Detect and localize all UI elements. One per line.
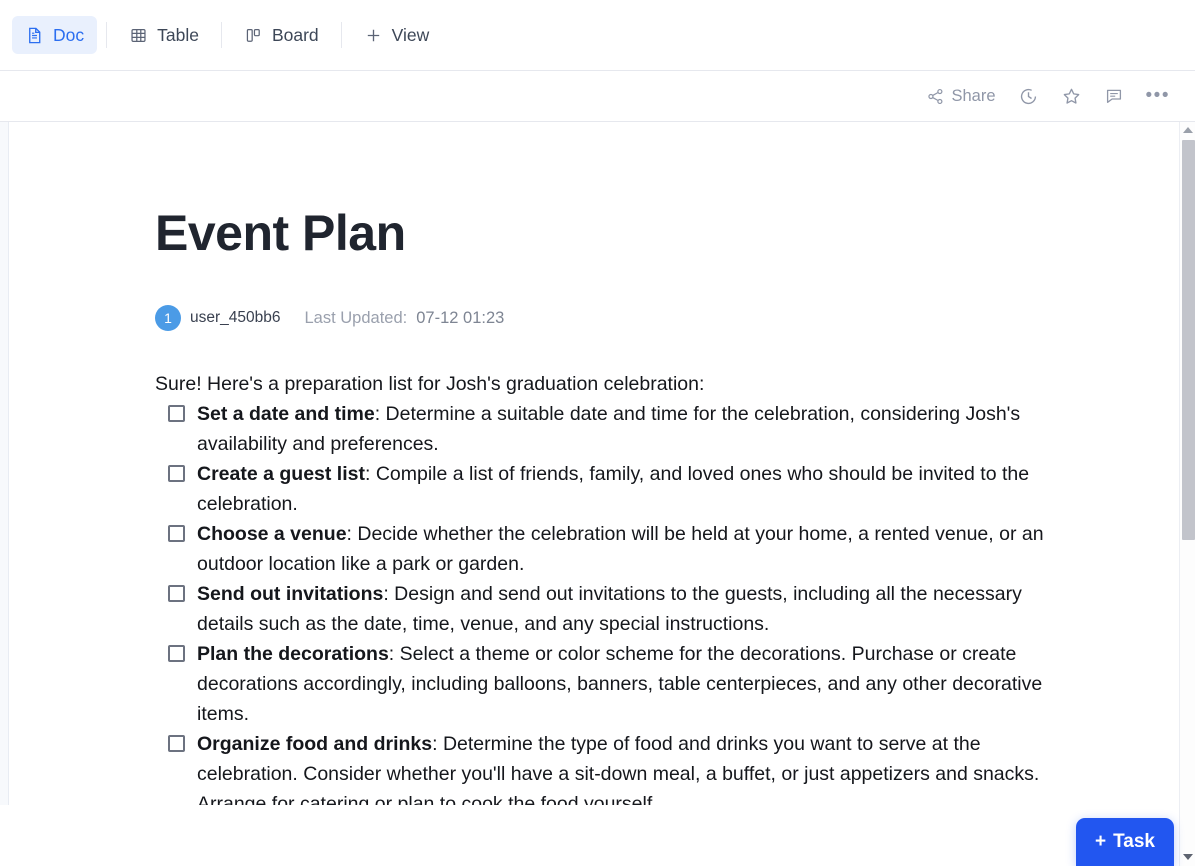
board-icon: [244, 26, 263, 45]
more-horizontal-icon: •••: [1146, 90, 1170, 102]
todo-text: Create a guest list: Compile a list of f…: [197, 459, 1059, 519]
todo-text: Send out invitations: Design and send ou…: [197, 579, 1059, 639]
page-title[interactable]: Event Plan: [155, 206, 1059, 261]
todo-text: Plan the decorations: Select a theme or …: [197, 639, 1059, 729]
tab-doc-label: Doc: [53, 25, 84, 46]
todo-text: Organize food and drinks: Determine the …: [197, 729, 1059, 805]
todo-checkbox[interactable]: [168, 405, 185, 422]
document-body[interactable]: Sure! Here's a preparation list for Josh…: [155, 369, 1059, 805]
comment-button[interactable]: [1101, 83, 1127, 109]
tab-divider-2: [221, 22, 222, 48]
tab-add-view-label: View: [392, 25, 430, 46]
doc-icon: [25, 26, 44, 45]
todo-title: Organize food and drinks: [197, 733, 432, 755]
todo-checkbox[interactable]: [168, 525, 185, 542]
tab-board[interactable]: Board: [231, 16, 332, 54]
history-button[interactable]: [1015, 83, 1042, 110]
tab-table[interactable]: Table: [116, 16, 212, 54]
todo-title: Send out invitations: [197, 583, 383, 605]
tab-add-view[interactable]: View: [351, 16, 443, 54]
plus-icon: [364, 26, 383, 45]
list-item: Set a date and time: Determine a suitabl…: [155, 399, 1059, 459]
share-label: Share: [952, 87, 996, 106]
todo-checkbox[interactable]: [168, 585, 185, 602]
add-task-button[interactable]: + Task: [1076, 818, 1174, 866]
view-tab-bar: Doc Table Board: [0, 0, 1195, 71]
history-clock-icon: [1018, 86, 1039, 107]
more-options-button[interactable]: •••: [1143, 87, 1173, 105]
author-name: user_450bb6: [190, 309, 281, 327]
document-action-toolbar: Share: [0, 71, 1195, 122]
list-item: Send out invitations: Design and send ou…: [155, 579, 1059, 639]
share-icon: [926, 87, 945, 106]
todo-text: Choose a venue: Decide whether the celeb…: [197, 519, 1059, 579]
document-meta: 1 user_450bb6 Last Updated: 07-12 01:23: [155, 305, 1059, 331]
list-item: Plan the decorations: Select a theme or …: [155, 639, 1059, 729]
todo-title: Set a date and time: [197, 403, 375, 425]
todo-title: Plan the decorations: [197, 643, 389, 665]
tab-board-label: Board: [272, 25, 319, 46]
scroll-down-arrow-icon[interactable]: [1180, 849, 1195, 865]
vertical-scrollbar[interactable]: [1179, 122, 1195, 866]
favorite-button[interactable]: [1058, 83, 1085, 110]
todo-title: Create a guest list: [197, 463, 365, 485]
tab-divider-3: [341, 22, 342, 48]
list-item: Organize food and drinks: Determine the …: [155, 729, 1059, 805]
document-content: Event Plan 1 user_450bb6 Last Updated: 0…: [9, 122, 1059, 805]
avatar[interactable]: 1: [155, 305, 181, 331]
table-icon: [129, 26, 148, 45]
add-task-label: Task: [1113, 831, 1155, 853]
todo-text: Set a date and time: Determine a suitabl…: [197, 399, 1059, 459]
tab-doc[interactable]: Doc: [12, 16, 97, 54]
document-canvas: Event Plan 1 user_450bb6 Last Updated: 0…: [9, 122, 1183, 805]
scroll-up-arrow-icon[interactable]: [1180, 122, 1195, 138]
scrollbar-thumb[interactable]: [1182, 140, 1195, 540]
todo-checkbox[interactable]: [168, 465, 185, 482]
tab-divider-1: [106, 22, 107, 48]
star-icon: [1061, 86, 1082, 107]
plus-icon: +: [1095, 831, 1106, 853]
todo-title: Choose a venue: [197, 523, 347, 545]
last-updated-label: Last Updated:: [305, 309, 408, 328]
collapsed-sidebar-rail[interactable]: [0, 122, 9, 805]
list-item: Choose a venue: Decide whether the celeb…: [155, 519, 1059, 579]
comment-icon: [1104, 86, 1124, 106]
share-button[interactable]: Share: [923, 84, 999, 109]
tab-table-label: Table: [157, 25, 199, 46]
document-app-window: Doc Table Board: [0, 0, 1195, 866]
todo-checkbox[interactable]: [168, 735, 185, 752]
list-item: Create a guest list: Compile a list of f…: [155, 459, 1059, 519]
todo-checkbox[interactable]: [168, 645, 185, 662]
last-updated-value: 07-12 01:23: [416, 309, 504, 328]
intro-paragraph: Sure! Here's a preparation list for Josh…: [155, 369, 1059, 399]
